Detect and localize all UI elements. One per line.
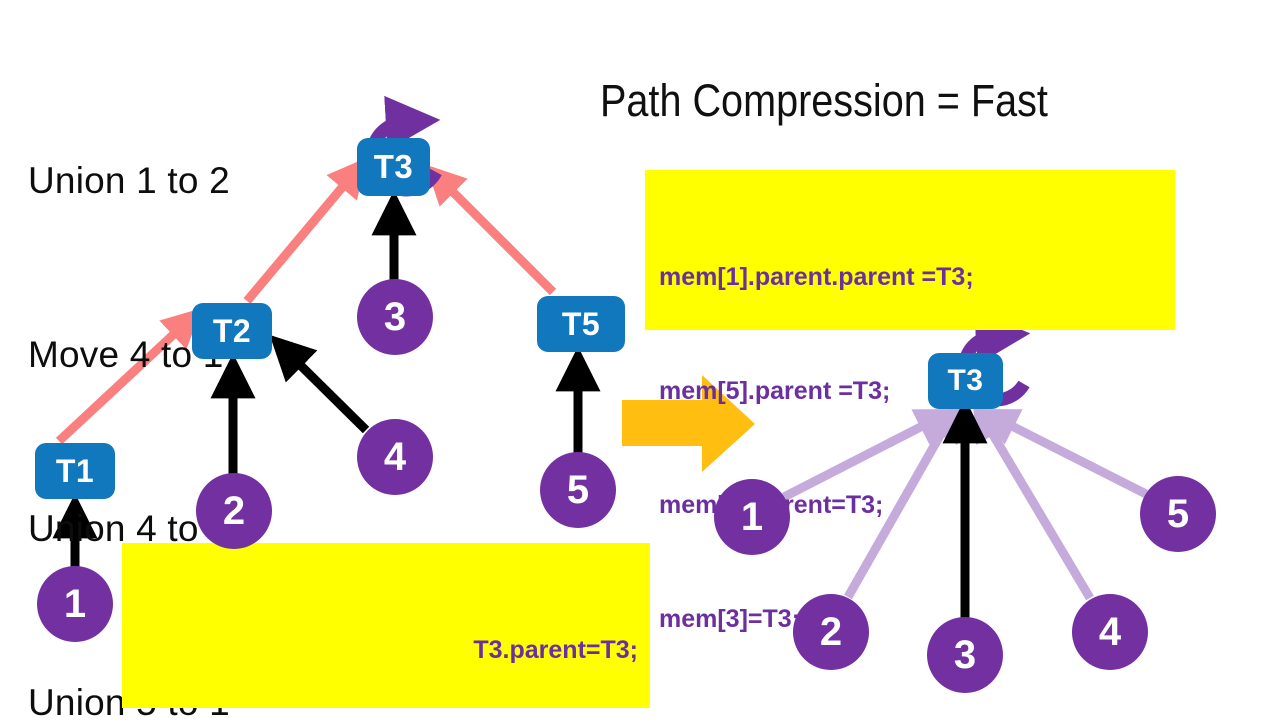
edge-n4-to-T2 bbox=[285, 350, 366, 430]
code-right-line-1: mem[1].parent.parent =T3; bbox=[659, 258, 1175, 296]
data-node-4-right[interactable]: 4 bbox=[1072, 594, 1148, 670]
code-box-parent-assignments: T3.parent=T3; T5.parent=T3; T2.parent =T… bbox=[122, 543, 650, 708]
data-node-5-left[interactable]: 5 bbox=[540, 452, 616, 528]
edge-T5-to-T3-union bbox=[439, 178, 553, 292]
slide-canvas: Union 1 to 2 Move 4 to 1 Union 4 to 3 Un… bbox=[0, 0, 1280, 720]
tree-node-T3-left[interactable]: T3 bbox=[357, 138, 430, 196]
data-node-4-left[interactable]: 4 bbox=[357, 419, 433, 495]
tree-node-T2[interactable]: T2 bbox=[192, 303, 272, 359]
data-node-1-right[interactable]: 1 bbox=[714, 479, 790, 555]
code-left-line-1: T3.parent=T3; bbox=[122, 631, 638, 669]
operation-line-1: Union 1 to 2 bbox=[28, 152, 230, 210]
data-node-2-left[interactable]: 2 bbox=[196, 473, 272, 549]
data-node-3-right[interactable]: 3 bbox=[927, 617, 1003, 693]
page-title: Path Compression = Fast bbox=[600, 74, 1048, 128]
tree-node-T3-right[interactable]: T3 bbox=[928, 353, 1003, 409]
tree-node-T5[interactable]: T5 bbox=[537, 296, 625, 352]
data-node-3-left[interactable]: 3 bbox=[357, 279, 433, 355]
edge-T2-to-T3-union bbox=[247, 172, 355, 301]
data-node-5-right[interactable]: 5 bbox=[1140, 476, 1216, 552]
data-node-1-left[interactable]: 1 bbox=[37, 566, 113, 642]
code-box-path-compression-mem: mem[1].parent.parent =T3; mem[5].parent … bbox=[645, 170, 1175, 330]
code-right-line-2: mem[5].parent =T3; bbox=[659, 372, 1175, 410]
tree-node-T1[interactable]: T1 bbox=[35, 443, 115, 499]
data-node-2-right[interactable]: 2 bbox=[793, 594, 869, 670]
